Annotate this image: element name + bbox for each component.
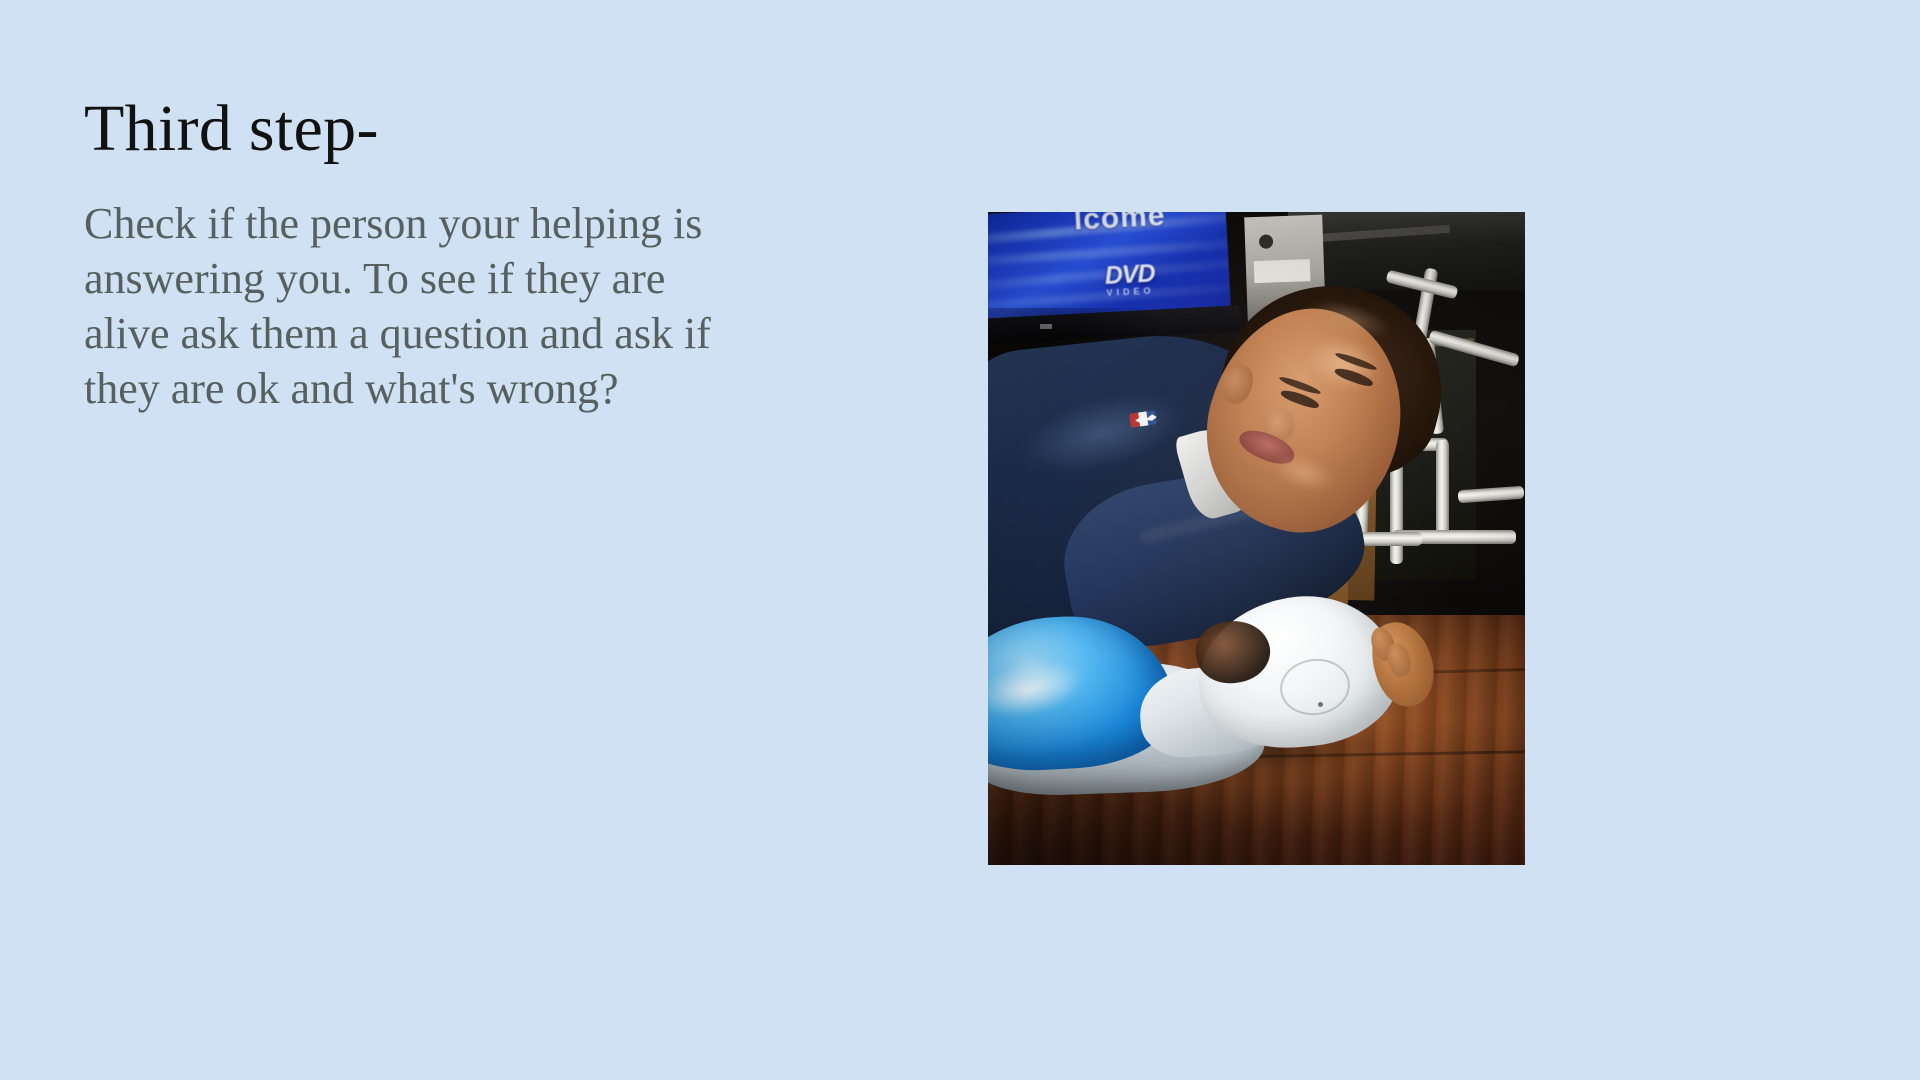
tv-welcome-text: lcome — [1073, 212, 1166, 237]
eagle-icon — [1134, 412, 1157, 425]
pipe-segment — [1360, 532, 1422, 546]
manikin-marker-dot — [1318, 702, 1323, 707]
slide: Third step- Check if the person your hel… — [0, 0, 1920, 1080]
dvd-video-logo: DVD VIDEO — [1104, 259, 1156, 298]
locker-knob — [1259, 234, 1273, 248]
page-title: Third step- — [84, 96, 744, 162]
television-screen: lcome DVD VIDEO — [988, 212, 1231, 320]
text-column: Third step- Check if the person your hel… — [84, 96, 744, 416]
locker-label — [1254, 259, 1311, 283]
cpr-photo: lcome DVD VIDEO — [988, 212, 1525, 865]
pipe-segment — [1436, 440, 1449, 536]
body-text: Check if the person your helping is answ… — [84, 162, 724, 416]
photo-frame: lcome DVD VIDEO — [988, 212, 1525, 865]
